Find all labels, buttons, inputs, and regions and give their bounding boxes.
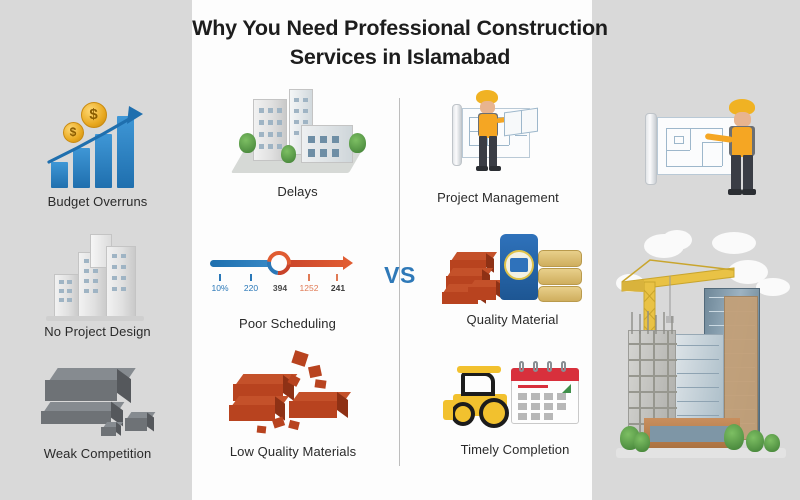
tree-icon [746,430,764,452]
title-line-2: Services in Islamabad [150,43,650,72]
left-item-label: No Project Design [10,324,185,339]
problem-item-label: Low Quality Materials [198,444,388,459]
left-item-budget-overruns[interactable]: $ $ Budget Overruns [10,100,185,209]
slider-tick [336,274,338,281]
cement-sack-icon [538,268,582,285]
problem-item-delays[interactable]: Delays [205,85,390,199]
concrete-blocks-icon [33,360,163,440]
slider-tick [250,274,252,281]
timeline-slider-icon[interactable]: 10% 220 394 1252 241 [205,248,355,304]
right-item-construction-site[interactable] [600,230,800,490]
blueprint-roll-icon [452,104,462,166]
engineer-blueprint-icon [438,88,558,186]
architect-floorplan-icon [633,95,778,200]
bar-chart-money-icon: $ $ [33,100,163,188]
problem-item-label: Poor Scheduling [205,316,370,331]
solution-item-label: Quality Material [425,312,600,327]
solution-item-project-management[interactable]: Project Management [408,88,588,205]
blueprint-roll-icon [645,113,657,185]
solution-item-quality-material[interactable]: Quality Material [425,230,600,327]
infographic-canvas: Why You Need Professional Construction S… [0,0,800,500]
title-line-1: Why You Need Professional Construction [150,14,650,43]
coin-small-icon: $ [63,122,84,143]
construction-site-crane-icon [600,230,800,490]
broken-bricks-icon [233,348,353,438]
slider-knob[interactable] [262,246,296,280]
solution-item-label: Project Management [408,190,588,205]
cement-sack-icon [538,250,582,267]
tree-icon [239,133,256,153]
left-item-label: Weak Competition [10,446,185,461]
solution-item-timely-completion[interactable]: Timely Completion [425,358,605,457]
left-item-label: Budget Overruns [10,194,185,209]
page-title: Why You Need Professional Construction S… [150,14,650,72]
coin-large-icon: $ [81,102,107,128]
tree-icon [724,424,744,450]
tree-icon [764,434,780,452]
tree-icon [634,432,650,452]
problem-item-poor-scheduling[interactable]: 10% 220 394 1252 241 Poor Scheduling [205,248,370,331]
slider-arrow-icon [343,256,353,270]
slider-label-4: 241 [321,283,355,293]
building-blocks-icon [38,230,158,320]
cement-bag-icon [500,234,538,300]
solution-item-label: Timely Completion [425,442,605,457]
slider-label-0: 10% [203,283,237,293]
floorplan-sheet-icon [657,117,739,175]
tree-icon [281,145,296,163]
left-item-weak-competition[interactable]: Weak Competition [10,360,185,461]
rebar-icon [626,310,686,334]
cement-sack-icon [538,286,582,302]
bricks-cement-bags-icon [438,230,588,306]
isometric-buildings-icon [225,85,370,180]
problem-item-label: Delays [205,184,390,199]
slider-tick [308,274,310,281]
calendar-icon [511,368,579,424]
tree-icon [349,133,366,153]
bulldozer-calendar-icon [443,358,588,436]
vs-badge: VS [375,262,425,289]
slider-tick [219,274,221,281]
right-item-architect-floorplan[interactable] [618,95,793,200]
left-item-no-project-design[interactable]: No Project Design [10,230,185,339]
problem-item-low-quality-materials[interactable]: Low Quality Materials [198,348,388,459]
